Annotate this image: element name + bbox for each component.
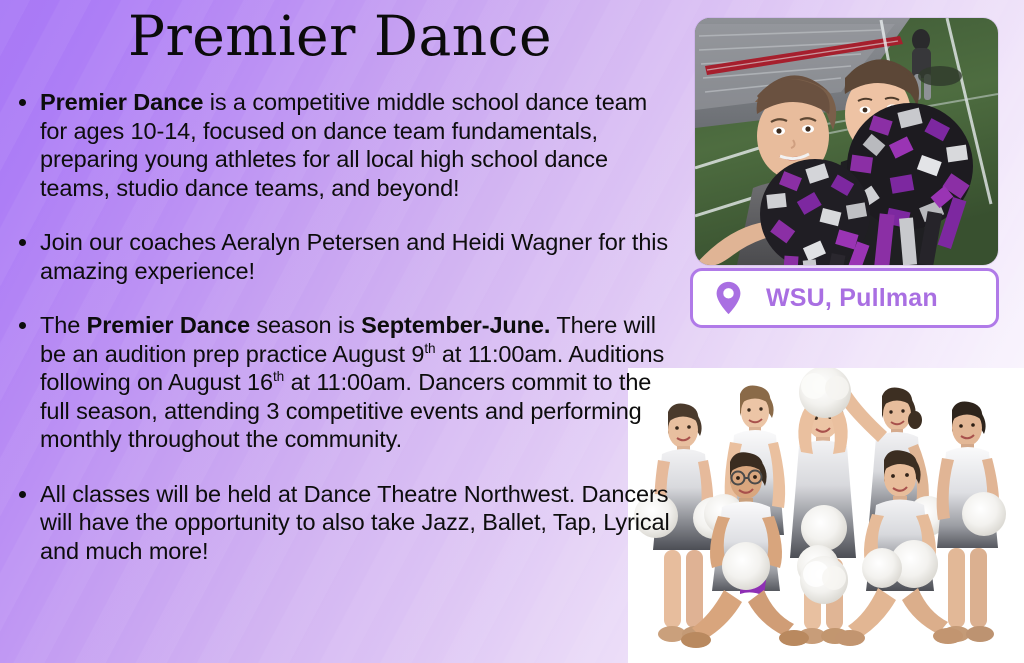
bullet-text: The Premier Dance season is September-Ju…: [40, 312, 664, 452]
bullet-text: All classes will be held at Dance Theatr…: [40, 481, 670, 564]
team-photo-illustration: [628, 368, 1024, 663]
location-badge[interactable]: WSU, Pullman: [690, 268, 999, 328]
bullet-dot-icon: [19, 322, 26, 329]
bullet-dot-icon: [19, 491, 26, 498]
bullet-item-coaches: Join our coaches Aeralyn Petersen and He…: [10, 228, 670, 285]
bullet-item-program-overview: Premier Dance is a competitive middle sc…: [10, 88, 670, 202]
bullet-list: Premier Dance is a competitive middle sc…: [10, 88, 670, 565]
location-label: WSU, Pullman: [766, 284, 938, 313]
photo-team: [628, 368, 1024, 663]
map-pin-icon: [715, 281, 742, 315]
bullet-text: Premier Dance is a competitive middle sc…: [40, 89, 647, 201]
selfie-photo-illustration: [695, 18, 998, 265]
bullet-item-season-auditions: The Premier Dance season is September-Ju…: [10, 311, 670, 454]
bullet-text: Join our coaches Aeralyn Petersen and He…: [40, 229, 668, 284]
page-title: Premier Dance: [120, 2, 560, 70]
flyer-canvas: Premier Dance Premier Dance is a competi…: [0, 0, 1024, 663]
bullet-dot-icon: [19, 239, 26, 246]
bullet-dot-icon: [19, 99, 26, 106]
bullet-item-classes: All classes will be held at Dance Theatr…: [10, 480, 670, 566]
photo-selfie: [695, 18, 998, 265]
